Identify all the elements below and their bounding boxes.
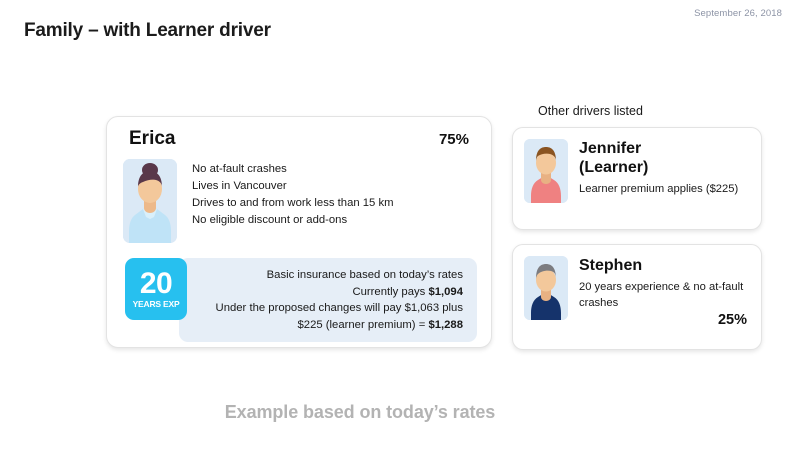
driver-percent-stephen: 25% bbox=[579, 312, 747, 328]
driver-card-jennifer-text: Jennifer (Learner) Learner premium appli… bbox=[579, 139, 747, 198]
driver-card-jennifer: Jennifer (Learner) Learner premium appli… bbox=[512, 127, 762, 230]
rate-details-box: Basic insurance based on today’s rates C… bbox=[179, 258, 477, 342]
experience-label: YEARS EXP bbox=[133, 299, 180, 309]
driver-name-stephen: Stephen bbox=[579, 256, 747, 275]
main-driver-percent: 75% bbox=[439, 131, 469, 148]
slide-date: September 26, 2018 bbox=[694, 8, 782, 19]
main-driver-facts: No at-fault crashes Lives in Vancouver D… bbox=[192, 159, 394, 229]
rate-line-0: Basic insurance based on today’s rates bbox=[201, 267, 463, 284]
fact-2: Drives to and from work less than 15 km bbox=[192, 195, 394, 212]
driver-description-stephen: 20 years experience & no at-fault crashe… bbox=[579, 279, 747, 311]
fact-1: Lives in Vancouver bbox=[192, 178, 394, 195]
rate-line-2-text: Under the proposed changes will pay $1,0… bbox=[216, 302, 463, 314]
page-title: Family – with Learner driver bbox=[24, 20, 271, 42]
avatar-person-grey-hair-navy-icon bbox=[524, 256, 568, 320]
main-driver-name: Erica bbox=[129, 128, 175, 150]
driver-card-stephen: Stephen 20 years experience & no at-faul… bbox=[512, 244, 762, 350]
footer-note: Example based on today’s rates bbox=[0, 402, 720, 423]
other-drivers-label: Other drivers listed bbox=[538, 104, 643, 118]
fact-0: No at-fault crashes bbox=[192, 161, 394, 178]
years-experience-badge: 20 YEARS EXP bbox=[125, 258, 187, 320]
rate-line-2: Under the proposed changes will pay $1,0… bbox=[201, 300, 463, 317]
avatar-person-brown-hair-pink-icon bbox=[524, 139, 568, 203]
experience-number: 20 bbox=[140, 270, 172, 298]
main-driver-header: Erica 75% bbox=[129, 128, 469, 150]
rate-line-3-text: $225 (learner premium) = bbox=[298, 319, 429, 331]
rate-line-0-text: Basic insurance based on today’s rates bbox=[267, 269, 463, 281]
main-driver-card: Erica 75% No at-fault crashes Lives in V… bbox=[106, 116, 492, 348]
driver-name-jennifer: Jennifer (Learner) bbox=[579, 139, 747, 177]
driver-card-jennifer-inner: Jennifer (Learner) Learner premium appli… bbox=[513, 128, 761, 203]
driver-description-jennifer: Learner premium applies ($225) bbox=[579, 181, 747, 197]
rate-line-1: Currently pays $1,094 bbox=[201, 284, 463, 301]
fact-3: No eligible discount or add-ons bbox=[192, 212, 394, 229]
rate-line-1-text: Currently pays bbox=[352, 286, 428, 298]
rates-row: 20 YEARS EXP Basic insurance based on to… bbox=[125, 258, 477, 342]
rate-line-3-bold: $1,288 bbox=[428, 319, 463, 331]
rate-line-3: $225 (learner premium) = $1,288 bbox=[201, 317, 463, 334]
rate-line-1-bold: $1,094 bbox=[428, 286, 463, 298]
driver-card-stephen-inner: Stephen 20 years experience & no at-faul… bbox=[513, 245, 761, 328]
avatar-woman-bun-icon bbox=[123, 159, 177, 243]
main-driver-body: No at-fault crashes Lives in Vancouver D… bbox=[123, 159, 394, 243]
driver-card-stephen-text: Stephen 20 years experience & no at-faul… bbox=[579, 256, 747, 328]
